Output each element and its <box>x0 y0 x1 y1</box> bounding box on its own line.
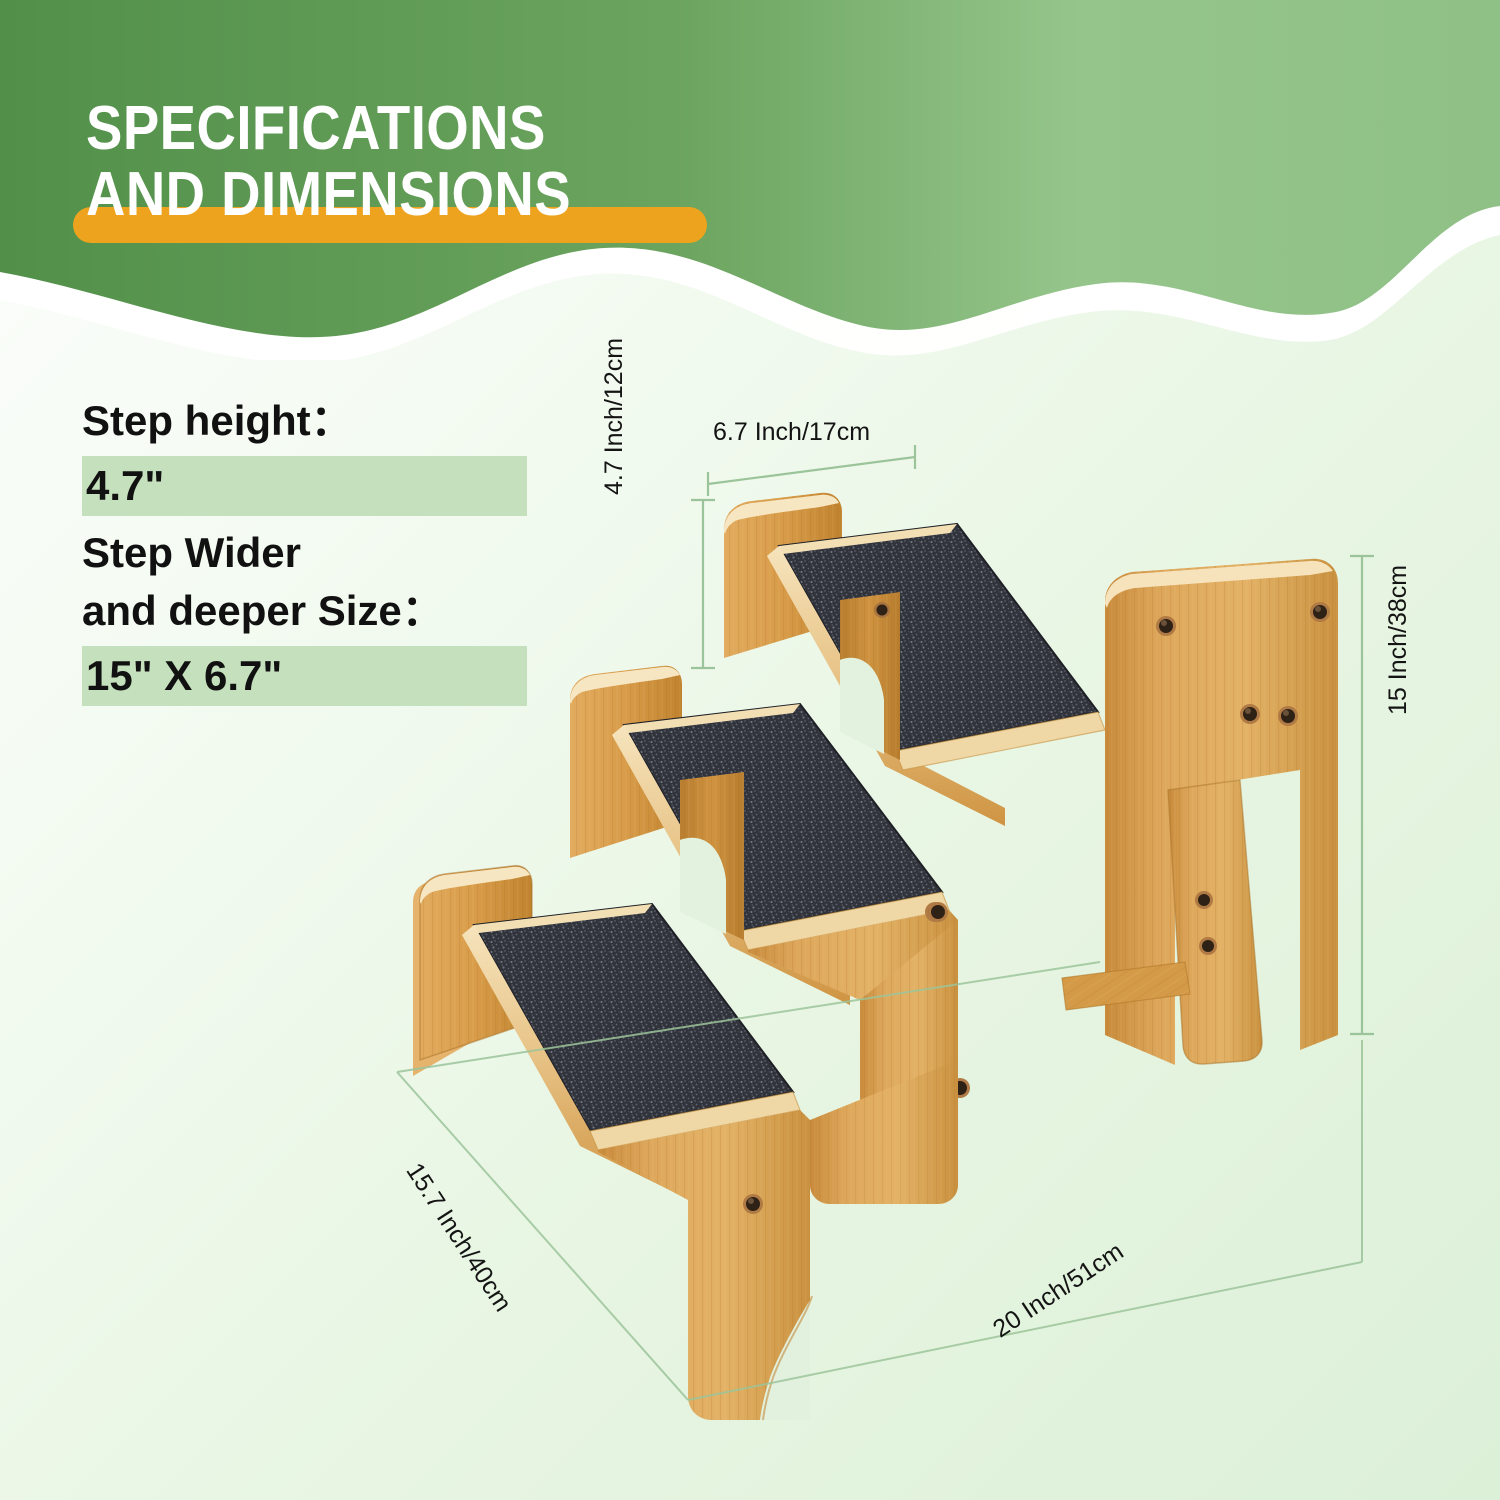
dimline-step-height <box>691 500 715 668</box>
dimline-total-height <box>1350 556 1374 1034</box>
screw-group-top-riser <box>874 602 890 618</box>
step-size-label-line2: and deeper Size： <box>82 582 552 640</box>
specification-list: Step height： 4.7" Step Wider and deeper … <box>82 392 552 714</box>
infographic-page: SPECIFICATIONS AND DIMENSIONS Step heigh… <box>0 0 1500 1500</box>
title-line-1: SPECIFICATIONS <box>86 96 755 162</box>
step-size-value: 15" X 6.7" <box>82 648 527 704</box>
page-title: SPECIFICATIONS AND DIMENSIONS <box>86 96 846 228</box>
screw-group-bottom-step <box>743 1194 763 1214</box>
step-height-value-highlight: 4.7" <box>82 456 527 516</box>
title-line-2: AND DIMENSIONS <box>86 162 755 228</box>
step-height-value: 4.7" <box>82 458 527 514</box>
step-size-value-highlight: 15" X 6.7" <box>82 646 527 706</box>
dimension-label-total-height: 15 Inch/38cm <box>1384 565 1413 715</box>
dimension-label-step-height: 4.7 Inch/12cm <box>600 338 629 495</box>
step-height-label: Step height： <box>82 392 552 450</box>
dimline-step-depth <box>708 445 915 496</box>
dimension-label-step-depth: 6.7 Inch/17cm <box>713 418 870 447</box>
step-size-label-line1: Step Wider <box>82 524 552 582</box>
